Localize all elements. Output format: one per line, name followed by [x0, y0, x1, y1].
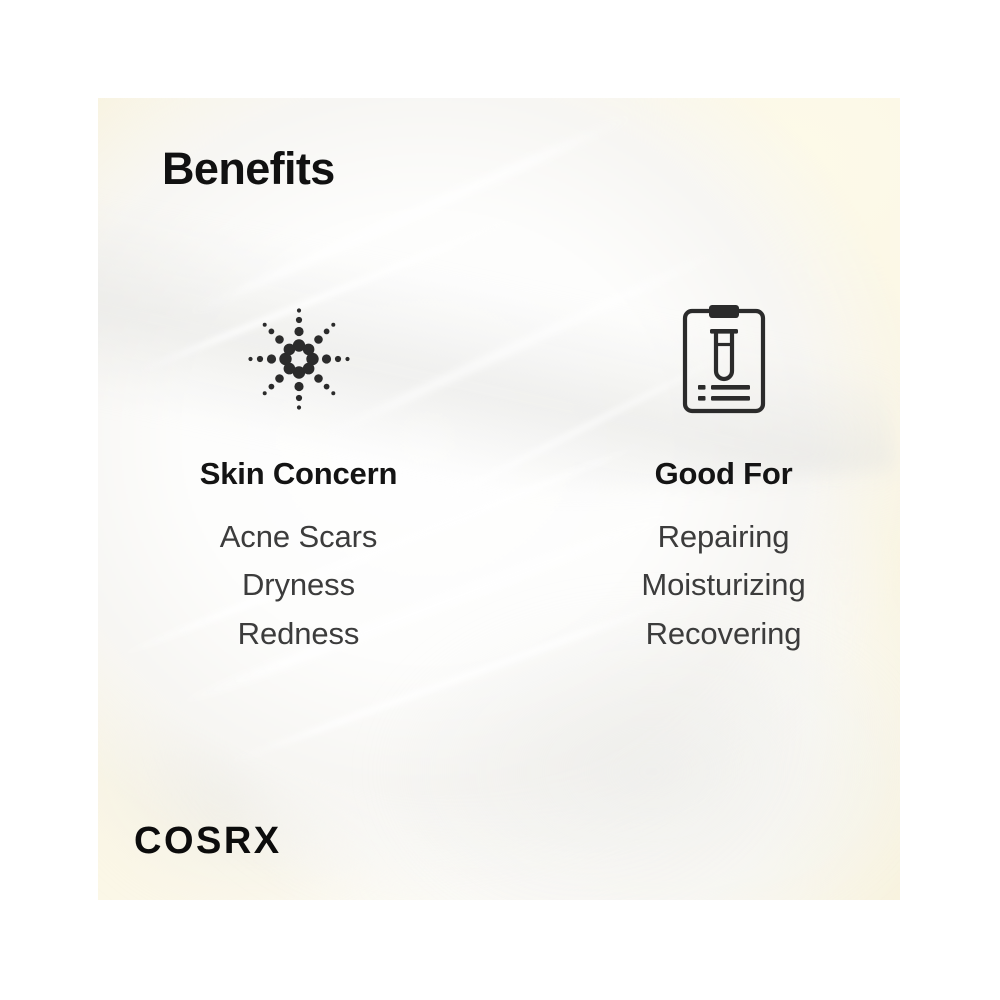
list-item: Repairing	[641, 513, 805, 561]
clipboard-test-tube-icon	[681, 294, 767, 424]
benefits-columns: Skin Concern Acne Scars Dryness Redness	[98, 294, 900, 674]
product-benefits-graphic: Benefits	[0, 0, 1000, 1000]
list-item: Redness	[220, 610, 378, 658]
column-heading: Good For	[655, 458, 793, 489]
column-heading: Skin Concern	[200, 458, 397, 489]
benefits-content: Benefits	[98, 98, 900, 900]
cream-texture-photo: Benefits	[98, 98, 900, 900]
benefit-list: Acne Scars Dryness Redness	[220, 513, 378, 658]
list-item: Acne Scars	[220, 513, 378, 561]
list-item: Moisturizing	[641, 561, 805, 609]
benefit-list: Repairing Moisturizing Recovering	[641, 513, 805, 658]
page-title: Benefits	[162, 146, 335, 191]
list-item: Recovering	[641, 610, 805, 658]
benefit-column-skin-concern: Skin Concern Acne Scars Dryness Redness	[98, 294, 519, 674]
brand-logo: COSRX	[134, 822, 282, 860]
benefit-column-good-for: Good For Repairing Moisturizing Recoveri…	[519, 294, 900, 674]
list-item: Dryness	[220, 561, 378, 609]
radiant-burst-icon	[240, 294, 358, 424]
